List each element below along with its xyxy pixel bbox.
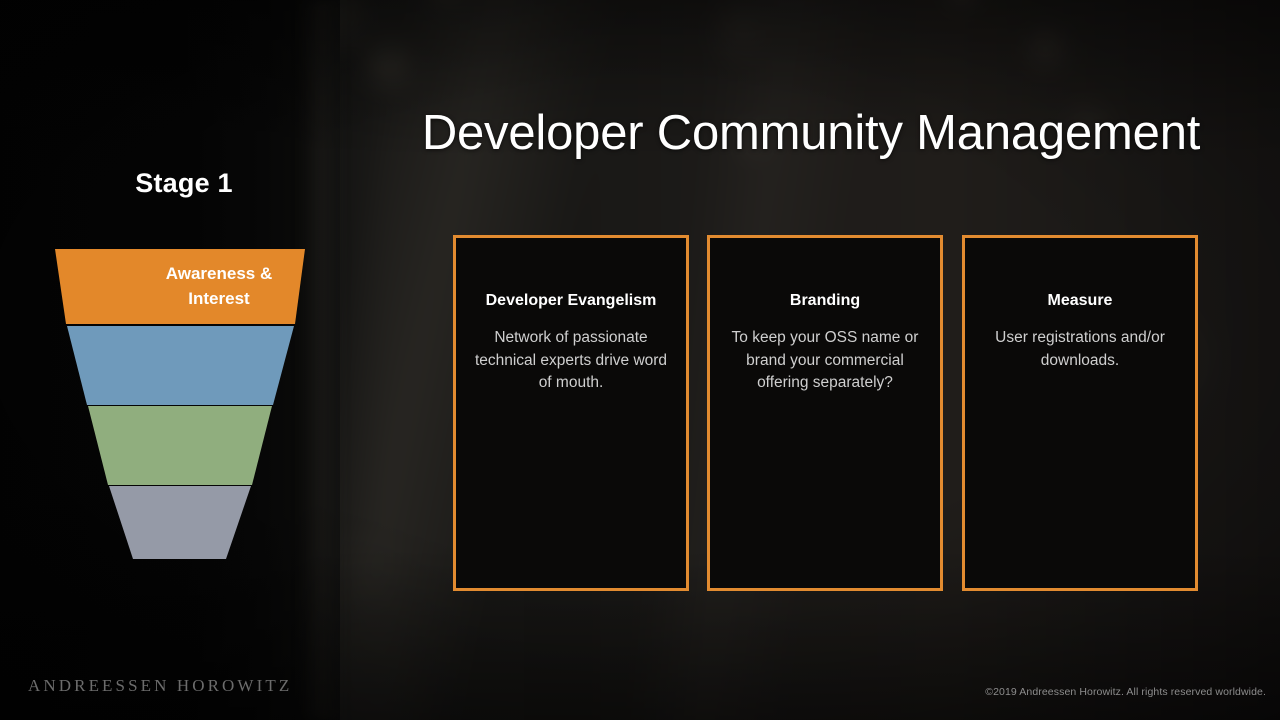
card-measure[interactable]: Measure User registrations and/or downlo… [962,235,1198,591]
stage-label: Stage 1 [0,168,368,199]
funnel-segment-3[interactable] [88,406,272,485]
card-branding[interactable]: Branding To keep your OSS name or brand … [707,235,943,591]
card-content: Branding To keep your OSS name or brand … [710,238,940,395]
funnel-svg [34,240,334,570]
funnel-diagram: Awareness & Interest [34,240,334,570]
funnel-segment-2[interactable] [67,326,294,405]
funnel-segment-4[interactable] [109,486,251,559]
copyright-notice: ©2019 Andreessen Horowitz. All rights re… [985,686,1266,698]
card-content: Measure User registrations and/or downlo… [965,238,1195,372]
card-heading: Measure [981,290,1179,313]
card-developer-evangelism[interactable]: Developer Evangelism Network of passiona… [453,235,689,591]
slide-root: Developer Community Management Stage 1 A… [0,0,1280,720]
card-heading: Developer Evangelism [472,290,670,313]
card-content: Developer Evangelism Network of passiona… [456,238,686,395]
brand-wordmark: ANDREESSEN HOROWITZ [28,676,292,696]
funnel-segment-awareness-interest[interactable] [55,249,305,324]
card-body: User registrations and/or downloads. [981,327,1179,373]
page-title: Developer Community Management [366,106,1256,161]
card-body: Network of passionate technical experts … [472,327,670,395]
card-heading: Branding [726,290,924,313]
card-body: To keep your OSS name or brand your comm… [726,327,924,395]
